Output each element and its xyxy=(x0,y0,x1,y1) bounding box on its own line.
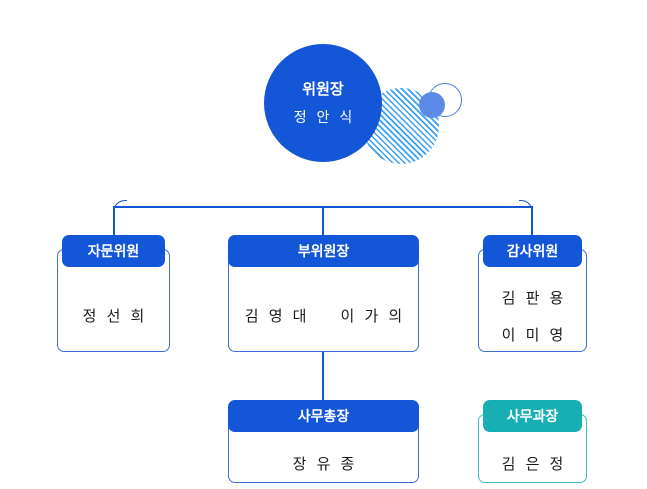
org-node-vice-chair[interactable]: 부위원장 김 영 대 이 가 의 xyxy=(228,235,419,352)
member-name: 이 가 의 xyxy=(338,309,406,324)
member-name: 이 미 영 xyxy=(499,328,567,343)
member-name: 김 영 대 xyxy=(242,309,310,324)
org-node-chairman[interactable]: 위원장 정 안 식 xyxy=(264,44,382,162)
advisory-name-list: 정 선 희 xyxy=(58,282,169,351)
org-node-advisory[interactable]: 자문위원 정 선 희 xyxy=(57,235,170,352)
name-row: 김 은 정 xyxy=(479,457,586,472)
name-row: 김 판 용 xyxy=(479,291,586,306)
audit-title: 감사위원 xyxy=(483,235,582,267)
member-name: 김 판 용 xyxy=(499,291,567,306)
filled-dot-circle-decoration xyxy=(419,92,445,118)
connector-drop-vicechair xyxy=(322,206,324,236)
name-row: 이 미 영 xyxy=(479,328,586,343)
org-node-audit[interactable]: 감사위원 김 판 용 이 미 영 xyxy=(478,235,587,352)
secretary-general-name-list: 장 유 종 xyxy=(229,447,418,482)
chairman-name: 정 안 식 xyxy=(291,110,355,124)
vice-chair-name-list: 김 영 대 이 가 의 xyxy=(229,282,418,351)
chairman-title: 위원장 xyxy=(302,82,343,97)
connector-drop-secretary-general xyxy=(322,352,324,401)
connector-corner-left xyxy=(113,200,127,214)
member-name: 김 은 정 xyxy=(499,457,567,472)
connector-drop-audit xyxy=(531,206,533,236)
name-row: 김 영 대 이 가 의 xyxy=(229,309,418,324)
connector-drop-advisory xyxy=(113,206,115,236)
secretary-general-title: 사무총장 xyxy=(228,400,419,432)
org-node-office-manager[interactable]: 사무과장 김 은 정 xyxy=(478,400,587,483)
member-name: 장 유 종 xyxy=(290,457,358,472)
office-manager-name-list: 김 은 정 xyxy=(479,447,586,482)
name-row: 정 선 희 xyxy=(58,309,169,324)
office-manager-title: 사무과장 xyxy=(483,400,582,432)
name-row: 장 유 종 xyxy=(229,457,418,472)
audit-name-list: 김 판 용 이 미 영 xyxy=(479,282,586,351)
advisory-title: 자문위원 xyxy=(62,235,165,267)
vice-chair-title: 부위원장 xyxy=(228,235,419,267)
org-node-secretary-general[interactable]: 사무총장 장 유 종 xyxy=(228,400,419,483)
member-name: 정 선 희 xyxy=(80,309,148,324)
org-chart-canvas: 위원장 정 안 식 자문위원 정 선 희 부위원장 김 영 대 이 가 의 xyxy=(0,0,647,489)
